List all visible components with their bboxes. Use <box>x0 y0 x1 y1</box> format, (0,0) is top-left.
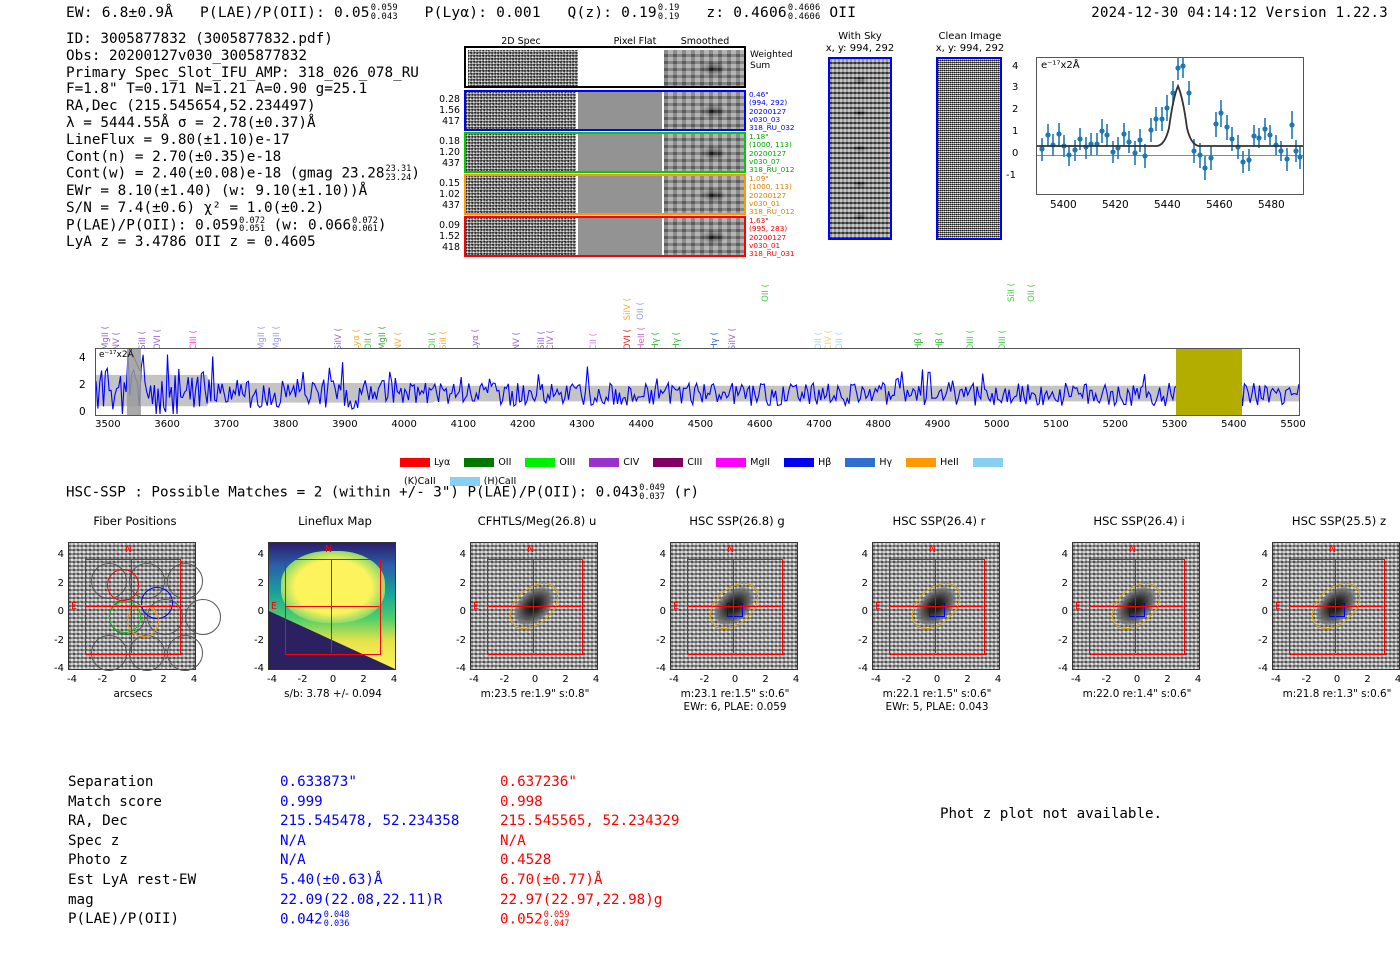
cont-w-text: Cont(w) = 2.40(±0.08)e-18 (gmag 23.28 <box>66 166 384 182</box>
emission-line-label-row: MgII (NV (SiII (OVI (CIII (MgII (MgII (S… <box>0 282 1400 350</box>
crosshair-horizontal <box>285 606 379 607</box>
spec2d-row-2-meta: 1.18" (1000, 113) 20200127 v030_07 318_R… <box>749 133 795 174</box>
aperture-rect <box>1089 559 1185 655</box>
hsc-header-suffix: (r) <box>673 485 699 501</box>
aperture-rect <box>889 559 985 655</box>
match-row-red-1: 0.998 <box>500 794 679 812</box>
line-fit-xtick-5460: 5460 <box>1206 199 1233 211</box>
row2-pixelflat-image <box>578 134 662 171</box>
info-line-ewr: EWr = 8.10(±1.40) (w: 9.10(±1.10))Å <box>66 183 420 200</box>
z-value: 0.4606 <box>733 5 787 21</box>
cutout-2-ytick-0: 4 <box>446 549 466 560</box>
cutout-1-xtick-2: 0 <box>322 674 344 685</box>
spectrum-xtick-4100: 4100 <box>448 419 478 430</box>
match-row-red-3: N/A <box>500 833 679 851</box>
spec2d-row-1 <box>464 90 746 131</box>
compass-north-label: N <box>325 544 332 555</box>
match-row-blue-6: 22.09(22.08,22.11)R <box>280 892 498 910</box>
legend-label-CIII: CIII <box>687 457 702 468</box>
plya-value: 0.001 <box>496 5 541 21</box>
emission-line-label-oiii-34: OIII ( <box>998 330 1008 350</box>
cutout-4-xtick-0: -4 <box>865 674 887 685</box>
aperture-rect <box>85 559 181 655</box>
cutout-0-xtick-3: 2 <box>153 674 175 685</box>
full-spectrum-plot: e⁻¹⁷x2Å <box>95 348 1300 416</box>
cutout-5-ytick-4: -4 <box>1048 663 1068 674</box>
compass-north-label: N <box>1129 544 1136 555</box>
emission-line-label-siiv-19: SiIV ( <box>623 298 633 320</box>
spec2d-row-1-numbers: 0.28 1.56 417 <box>428 94 460 127</box>
line-fit-xtick-5400: 5400 <box>1050 199 1077 211</box>
match-table: Separation0.633873"0.637236"Match score0… <box>66 772 681 931</box>
emission-line-label-ovi-3: OVI ( <box>153 329 163 350</box>
cutout-6-xtick-3: 2 <box>1357 674 1379 685</box>
cutout-image-4[interactable]: NE <box>872 542 1000 670</box>
legend-label-Hγ: Hγ <box>879 457 892 468</box>
match-row-blue-4: N/A <box>280 852 498 870</box>
emission-line-label-lyα-8: Lyα ( <box>352 329 362 350</box>
legend-swatch-CIII <box>653 458 683 467</box>
cutout-image-1[interactable]: NE <box>268 542 396 670</box>
cutout-1-ytick-1: 2 <box>244 578 264 589</box>
cutout-0-xtick-2: 0 <box>122 674 144 685</box>
aperture-rect <box>687 559 783 655</box>
object-info-block: ID: 3005877832 (3005877832.pdf) Obs: 202… <box>66 31 420 251</box>
with-sky-title: With Sky x, y: 994, 292 <box>812 31 908 54</box>
match-row-red-2: 215.545565, 52.234329 <box>500 813 679 831</box>
cutout-image-6[interactable]: NE <box>1272 542 1400 670</box>
ew-label: EW: <box>66 5 93 21</box>
cutout-4-ytick-4: -4 <box>848 663 868 674</box>
cutout-4-xtick-1: -2 <box>896 674 918 685</box>
legend-label-MgII: MgII <box>750 457 770 468</box>
legend-label-OIII: OIII <box>559 457 575 468</box>
hsc-ssp-header: HSC-SSP : Possible Matches = 2 (within +… <box>66 484 699 501</box>
info-line-redshifts: LyA z = 3.4786 OII z = 0.4605 <box>66 234 420 251</box>
legend-item-MgII: MgII <box>716 452 770 471</box>
info-plae-text: P(LAE)/P(OII): 0.059 <box>66 217 238 233</box>
cutout-6-ytick-0: 4 <box>1248 549 1268 560</box>
cutout-1-ytick-4: -4 <box>244 663 264 674</box>
cutout-1-ytick-3: -2 <box>244 635 264 646</box>
cutout-5-xtick-0: -4 <box>1065 674 1087 685</box>
match-row-label-5: Est LyA rest-EW <box>68 872 278 890</box>
aperture-rect <box>1289 559 1385 655</box>
cutout-2-ytick-2: 0 <box>446 606 466 617</box>
table-row: Photo zN/A0.4528 <box>68 852 679 870</box>
match-row-blue-2: 215.545478, 52.234358 <box>280 813 498 831</box>
line-fit-ytick-4: 4 <box>1012 61 1018 72</box>
emission-line-label-heii-22: HeII ( <box>637 327 647 350</box>
match-row-red-4: 0.4528 <box>500 852 679 870</box>
info-line-radec: RA,Dec (215.545654,52.234497) <box>66 98 420 115</box>
spec2d-row-4-meta: 1.63" (995, 283) 20200127 v030_01 318_RU… <box>749 217 795 258</box>
cutout-6-xtick-4: 4 <box>1387 674 1400 685</box>
legend-swatch-(K)CaII <box>973 458 1003 467</box>
line-fit-ytick-2: 2 <box>1012 104 1018 115</box>
spectrum-band-5444 <box>1176 349 1242 415</box>
cutout-title-3: HSC SSP(26.8) g <box>642 514 832 528</box>
cont-w-suffix: ) <box>411 166 420 182</box>
match-row-blue-3: N/A <box>280 833 498 851</box>
match-row-red-plae-value: 0.052 <box>500 912 543 928</box>
legend-swatch-Lyα <box>400 458 430 467</box>
match-row-label-6: mag <box>68 892 278 910</box>
cutout-0-xtick-4: 4 <box>183 674 205 685</box>
info-plae-w-lo: 0.061 <box>352 225 378 234</box>
match-row-red-plae: 0.0520.0590.047 <box>500 911 679 929</box>
cutout-panel-5: HSC SSP(26.4) iNE420-2-4-4-2024m:22.0 re… <box>1072 514 1262 729</box>
spec2d-row-3 <box>464 174 746 215</box>
legend-label-Hβ: Hβ <box>818 457 831 468</box>
table-row: mag22.09(22.08,22.11)R22.97(22.97,22.98)… <box>68 892 679 910</box>
spectrum-xtick-4900: 4900 <box>923 419 953 430</box>
compass-north-label: N <box>727 544 734 555</box>
table-row: Est LyA rest-EW5.40(±0.63)Å6.70(±0.77)Å <box>68 872 679 890</box>
table-row: RA, Dec215.545478, 52.234358215.545565, … <box>68 813 679 831</box>
row4-2dspec-image <box>466 218 576 255</box>
crosshair-vertical <box>935 559 936 653</box>
timestamp-version: 2024-12-30 04:14:12 Version 1.22.3 <box>1091 5 1388 21</box>
spectrum-xtick-5500: 5500 <box>1278 419 1308 430</box>
qz-value: 0.19 <box>621 5 657 21</box>
row2-2dspec-image <box>466 134 576 171</box>
spectrum-xtick-row: 3500360037003800390040004100420043004400… <box>0 419 1400 435</box>
spectrum-xtick-4500: 4500 <box>685 419 715 430</box>
cutout-caption-2: m:23.5 re:1.9" s:0.8" <box>440 688 630 701</box>
table-row: Separation0.633873"0.637236" <box>68 774 679 792</box>
qz-label: Q(z): <box>568 5 613 21</box>
legend-label-Lyα: Lyα <box>434 457 450 468</box>
cutout-3-ytick-1: 2 <box>646 578 666 589</box>
info-plae-lo: 0.051 <box>239 225 265 234</box>
crosshair-horizontal <box>687 606 781 607</box>
plae-label: P(LAE)/P(OII): <box>200 5 325 21</box>
spectrum-ytick-2: 2 <box>79 379 86 391</box>
cutout-2-xtick-0: -4 <box>463 674 485 685</box>
cutout-4-ytick-1: 2 <box>848 578 868 589</box>
emission-line-label-oii-36: OII ( <box>1027 284 1037 302</box>
spectrum-ytick-4: 4 <box>79 352 86 364</box>
cutout-caption-0: arcsecs <box>38 688 228 701</box>
cutout-0-ytick-1: 2 <box>44 578 64 589</box>
cutout-5-ytick-0: 4 <box>1048 549 1068 560</box>
cutout-caption-3: m:23.1 re:1.5" s:0.6" <box>640 688 830 701</box>
legend-swatch-Hβ <box>784 458 814 467</box>
cutout-2-ytick-3: -2 <box>446 635 466 646</box>
match-row-blue-1: 0.999 <box>280 794 498 812</box>
table-row: P(LAE)/P(OII)0.0420.0480.0360.0520.0590.… <box>68 911 679 929</box>
cutout-caption-1: s/b: 3.78 +/- 0.094 <box>238 688 428 701</box>
cutout-4-xtick-4: 4 <box>987 674 1009 685</box>
clean-image-cutout <box>936 57 1002 240</box>
info-line-id: ID: 3005877832 (3005877832.pdf) <box>66 31 420 48</box>
spec2d-row-3-numbers: 0.15 1.02 437 <box>428 178 460 211</box>
match-row-red-plae-lo: 0.047 <box>544 920 570 929</box>
match-row-label-4: Photo z <box>68 852 278 870</box>
match-row-blue-0: 0.633873" <box>280 774 498 792</box>
spec2d-row-2 <box>464 132 746 173</box>
match-row-label-2: RA, Dec <box>68 813 278 831</box>
header-summary-line: EW: 6.8±0.9Å P(LAE)/P(OII): 0.050.0590.0… <box>66 4 856 22</box>
legend-item-HeII: HeII <box>906 452 959 471</box>
row1-2dspec-image <box>466 92 576 129</box>
row3-smoothed-image <box>664 176 744 213</box>
emission-line-label-civ-28: CIV ( <box>824 330 834 351</box>
cutout-6-xtick-1: -2 <box>1296 674 1318 685</box>
emission-line-label-mgii-0: MgII ( <box>101 326 111 350</box>
legend-item-CIII: CIII <box>653 452 702 471</box>
emission-line-label-mgii-5: MgII ( <box>257 326 267 350</box>
cutout-caption2-3: EWr: 6, PLAE: 0.059 <box>640 701 830 714</box>
weighted-sum-2dspec-image <box>468 50 578 86</box>
spectrum-xtick-4300: 4300 <box>567 419 597 430</box>
legend-swatch-MgII <box>716 458 746 467</box>
cutout-0-ytick-3: -2 <box>44 635 64 646</box>
emission-line-label-siiv-26: SiIV ( <box>728 328 738 350</box>
plya-label: P(Lyα): <box>425 5 488 21</box>
legend-label-HeII: HeII <box>940 457 959 468</box>
crosshair-horizontal <box>1289 606 1383 607</box>
info-line-obs: Obs: 20200127v030_3005877832 <box>66 48 420 65</box>
info-plae-w-text: (w: 0.066 <box>274 217 351 233</box>
match-row-blue-plae-value: 0.042 <box>280 912 323 928</box>
cutout-image-5[interactable]: NE <box>1072 542 1200 670</box>
spec2d-row-2-numbers: 0.18 1.20 437 <box>428 136 460 169</box>
spectrum-xtick-4700: 4700 <box>804 419 834 430</box>
cutout-title-2: CFHTLS/Meg(26.8) u <box>442 514 632 528</box>
cutout-2-xtick-4: 4 <box>585 674 607 685</box>
cutout-1-ytick-2: 0 <box>244 606 264 617</box>
emission-line-label-oiii-33: OIII ( <box>966 330 976 350</box>
cutout-title-4: HSC SSP(26.4) r <box>844 514 1034 528</box>
emission-line-label-oii-30: OII ( <box>761 284 771 302</box>
legend-swatch-OII <box>464 458 494 467</box>
cutout-title-1: Lineflux Map <box>240 514 430 528</box>
spectrum-xtick-5100: 5100 <box>1041 419 1071 430</box>
cutout-title-5: HSC SSP(26.4) i <box>1044 514 1234 528</box>
row4-smoothed-image <box>664 218 744 255</box>
compass-north-label: N <box>1329 544 1336 555</box>
compass-east-label: E <box>875 601 881 612</box>
spectrum-xtick-5200: 5200 <box>1100 419 1130 430</box>
legend-swatch-Hγ <box>845 458 875 467</box>
spectrum-xtick-3700: 3700 <box>211 419 241 430</box>
spectrum-xtick-5300: 5300 <box>1160 419 1190 430</box>
table-row: Match score0.9990.998 <box>68 794 679 812</box>
line-fit-ytick-0: 0 <box>1012 148 1018 159</box>
cutout-0-ytick-4: -4 <box>44 663 64 674</box>
fiber-circle-5 <box>185 599 221 635</box>
cutout-5-xtick-2: 0 <box>1126 674 1148 685</box>
cutout-1-xtick-3: 2 <box>353 674 375 685</box>
match-row-blue-5: 5.40(±0.63)Å <box>280 872 498 890</box>
cutout-image-0[interactable]: NE <box>68 542 196 670</box>
cutout-3-xtick-3: 2 <box>755 674 777 685</box>
crosshair-vertical <box>533 559 534 653</box>
plae-value: 0.05 <box>334 5 370 21</box>
legend-item-Lyα: Lyα <box>400 452 450 471</box>
weighted-sum-row <box>464 46 746 88</box>
ew-value: 6.8±0.9Å <box>102 5 173 21</box>
emission-line-label-civ-17: CIV ( <box>546 330 556 351</box>
info-line-cont-n: Cont(n) = 2.70(±0.35)e-18 <box>66 149 420 166</box>
gmag-lo: 23.24 <box>385 174 411 183</box>
legend-swatch-HeII <box>906 458 936 467</box>
line-fit-xtick-5420: 5420 <box>1102 199 1129 211</box>
crosshair-horizontal <box>487 606 581 607</box>
hsc-header-text: HSC-SSP : Possible Matches = 2 (within +… <box>66 485 638 501</box>
spectrum-xtick-4600: 4600 <box>745 419 775 430</box>
info-line-primary: Primary Spec_Slot_IFU_AMP: 318_026_078_R… <box>66 65 420 82</box>
legend-item-CIV: CIV <box>589 452 639 471</box>
match-row-red-5: 6.70(±0.77)Å <box>500 872 679 890</box>
cutout-3-ytick-2: 0 <box>646 606 666 617</box>
compass-east-label: E <box>71 601 77 612</box>
crosshair-vertical <box>131 559 132 653</box>
cutout-3-ytick-3: -2 <box>646 635 666 646</box>
cutout-5-xtick-4: 4 <box>1187 674 1209 685</box>
cutout-3-ytick-4: -4 <box>646 663 666 674</box>
spectrum-legend: LyαOIIOIIICIVCIIIMgIIHβHγHeII(K)CaII(H)C… <box>400 452 1020 466</box>
info-line-lineflux: LineFlux = 9.80(±1.10)e-17 <box>66 132 420 149</box>
legend-item-OII: OII <box>464 452 511 471</box>
cutout-panel-3: HSC SSP(26.8) gNE420-2-4-4-2024m:23.1 re… <box>670 514 860 729</box>
cutout-6-ytick-1: 2 <box>1248 578 1268 589</box>
info-line-params: F=1.8" T=0.171 N=1.21 A=0.90 g=25.1 <box>66 81 420 98</box>
cutout-4-ytick-0: 4 <box>848 549 868 560</box>
cutout-1-xtick-0: -4 <box>261 674 283 685</box>
row1-smoothed-image <box>664 92 744 129</box>
cutout-caption-6: m:21.8 re:1.3" s:0.6" <box>1242 688 1400 701</box>
emission-line-label-lyα-14: Lyα ( <box>471 329 481 350</box>
weighted-sum-smoothed-image <box>664 50 744 86</box>
spectrum-xtick-4800: 4800 <box>863 419 893 430</box>
full-spectrum-svg <box>96 349 1299 415</box>
crosshair-horizontal <box>1089 606 1183 607</box>
cutout-4-xtick-3: 2 <box>957 674 979 685</box>
match-row-red-6: 22.97(22.97,22.98)g <box>500 892 679 910</box>
cutout-1-xtick-1: -2 <box>292 674 314 685</box>
compass-north-label: N <box>527 544 534 555</box>
line-fit-ytick-3: 3 <box>1012 82 1018 93</box>
clean-image-title: Clean Image x, y: 994, 292 <box>918 31 1022 54</box>
crosshair-vertical <box>1135 559 1136 653</box>
info-line-sn: S/N = 7.4(±0.6) χ² = 1.0(±0.2) <box>66 200 420 217</box>
emission-line-label-mgii-6: MgII ( <box>272 326 282 350</box>
line-fit-xtick-5440: 5440 <box>1154 199 1181 211</box>
cutout-panel-6: HSC SSP(25.5) zNE420-2-4-4-2024m:21.8 re… <box>1272 514 1400 729</box>
line-fit-plot: e⁻¹⁷x2Å <box>1036 57 1304 195</box>
compass-east-label: E <box>473 601 479 612</box>
cutout-3-xtick-2: 0 <box>724 674 746 685</box>
spec2d-row-4 <box>464 216 746 257</box>
compass-east-label: E <box>673 601 679 612</box>
cutout-6-ytick-2: 0 <box>1248 606 1268 617</box>
cutout-5-ytick-2: 0 <box>1048 606 1068 617</box>
emission-line-label-oii-20: OII ( <box>636 302 646 320</box>
info-line-cont-w: Cont(w) = 2.40(±0.08)e-18 (gmag 23.2823.… <box>66 165 420 183</box>
legend-label-CIV: CIV <box>623 457 639 468</box>
cutout-5-xtick-3: 2 <box>1157 674 1179 685</box>
line-fit-xtick-5480: 5480 <box>1258 199 1285 211</box>
match-row-red-0: 0.637236" <box>500 774 679 792</box>
match-row-label-3: Spec z <box>68 833 278 851</box>
cutout-3-xtick-1: -2 <box>694 674 716 685</box>
cutout-1-xtick-4: 4 <box>383 674 405 685</box>
cutout-5-ytick-1: 2 <box>1048 578 1068 589</box>
line-fit-ytick-neg1: -1 <box>1006 170 1016 181</box>
cutout-4-ytick-3: -2 <box>848 635 868 646</box>
legend-item-Hγ: Hγ <box>845 452 892 471</box>
cutout-6-xtick-0: -4 <box>1265 674 1287 685</box>
legend-item-Hβ: Hβ <box>784 452 831 471</box>
match-row-label-1: Match score <box>68 794 278 812</box>
cutout-panel-4: HSC SSP(26.4) rNE420-2-4-4-2024m:22.1 re… <box>872 514 1062 729</box>
row1-pixelflat-image <box>578 92 662 129</box>
cutout-title-0: Fiber Positions <box>40 514 230 528</box>
cutout-2-xtick-2: 0 <box>524 674 546 685</box>
line-fit-units-annotation: e⁻¹⁷x2Å <box>1041 60 1080 71</box>
crosshair-vertical <box>733 559 734 653</box>
emission-line-label-mgii-10: MgII ( <box>378 326 388 350</box>
weighted-sum-label: WeightedSum <box>750 50 793 72</box>
spectrum-xtick-4000: 4000 <box>389 419 419 430</box>
info-plae-suffix: ) <box>378 217 387 233</box>
row3-2dspec-image <box>466 176 576 213</box>
cutout-3-xtick-0: -4 <box>663 674 685 685</box>
match-row-blue-plae: 0.0420.0480.036 <box>280 911 498 929</box>
line-fit-ytick-1: 1 <box>1012 126 1018 137</box>
cutout-panel-2: CFHTLS/Meg(26.8) uNE420-2-4-4-2024m:23.5… <box>470 514 660 729</box>
spec2d-row-1-meta: 0.46" (994, 292) 20200127 v030_03 318_RU… <box>749 91 795 132</box>
info-line-plae: P(LAE)/P(OII): 0.0590.0720.051 (w: 0.066… <box>66 217 420 235</box>
match-row-label-plae: P(LAE)/P(OII) <box>68 911 278 929</box>
aperture-rect <box>285 559 381 655</box>
cutout-0-ytick-2: 0 <box>44 606 64 617</box>
crosshair-vertical <box>331 559 332 653</box>
cutout-2-xtick-1: -2 <box>494 674 516 685</box>
match-row-blue-plae-lo: 0.036 <box>324 920 350 929</box>
legend-swatch-OIII <box>525 458 555 467</box>
cutout-title-6: HSC SSP(25.5) z <box>1244 514 1400 528</box>
emission-line-label-siii-35: SiII ( <box>1007 283 1017 302</box>
cutout-4-ytick-2: 0 <box>848 606 868 617</box>
aperture-rect <box>487 559 583 655</box>
crosshair-horizontal <box>85 606 179 607</box>
hsc-header-lo: 0.037 <box>639 493 665 502</box>
spec2d-row-3-meta: 1.09" (1000, 113) 20200127 v030_01 318_R… <box>749 175 795 216</box>
crosshair-vertical <box>1335 559 1336 653</box>
cutout-caption-4: m:22.1 re:1.5" s:0.6" <box>842 688 1032 701</box>
z-species: OII <box>829 5 856 21</box>
cutout-image-2[interactable]: NE <box>470 542 598 670</box>
cutout-5-xtick-1: -2 <box>1096 674 1118 685</box>
cutout-0-xtick-0: -4 <box>61 674 83 685</box>
emission-line-label-siiv-7: SiIV ( <box>334 328 344 350</box>
cutout-image-3[interactable]: NE <box>670 542 798 670</box>
cutout-0-xtick-1: -2 <box>92 674 114 685</box>
cutout-3-xtick-4: 4 <box>785 674 807 685</box>
info-line-lambda: λ = 5444.55Å σ = 2.78(±0.37)Å <box>66 115 420 132</box>
cutout-4-xtick-2: 0 <box>926 674 948 685</box>
z-lo: 0.4606 <box>788 13 821 22</box>
z-label: z: <box>706 5 724 21</box>
match-row-label-0: Separation <box>68 774 278 792</box>
spectrum-xtick-3900: 3900 <box>330 419 360 430</box>
cutout-0-ytick-0: 4 <box>44 549 64 560</box>
cutout-2-ytick-1: 2 <box>446 578 466 589</box>
